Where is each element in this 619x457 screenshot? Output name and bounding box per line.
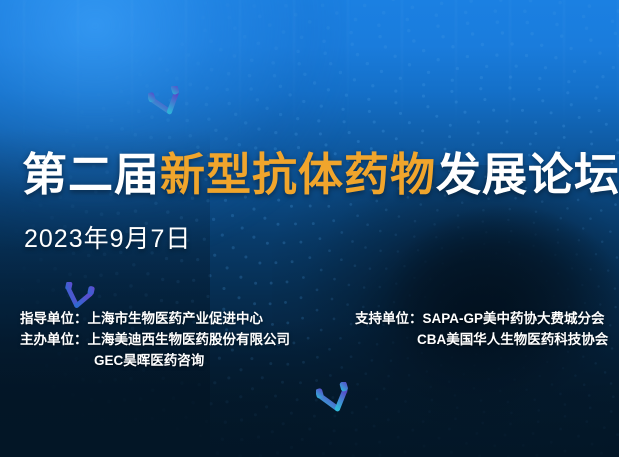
guidance-unit-line: 指导单位：上海市生物医药产业促进中心 — [20, 308, 290, 329]
banner-content: 第二届新型抗体药物发展论坛 2023年9月7日 指导单位：上海市生物医药产业促进… — [0, 0, 619, 457]
forum-banner: 第二届新型抗体药物发展论坛 2023年9月7日 指导单位：上海市生物医药产业促进… — [0, 0, 619, 457]
organizers-right-block: 支持单位：SAPA-GP美中药协大费城分会 CBA美国华人生物医药科技协会 — [355, 308, 608, 350]
support-unit-line-2: CBA美国华人生物医药科技协会 — [355, 329, 608, 350]
banner-title: 第二届新型抗体药物发展论坛 — [22, 152, 619, 197]
support-unit-line: 支持单位：SAPA-GP美中药协大费城分会 — [355, 308, 608, 329]
organizers-left-block: 指导单位：上海市生物医药产业促进中心 主办单位：上海美迪西生物医药股份有限公司 … — [20, 308, 290, 371]
event-date: 2023年9月7日 — [24, 219, 191, 255]
title-highlight: 新型抗体药物 — [160, 149, 436, 200]
title-suffix: 发展论坛 — [436, 149, 619, 200]
host-unit-line: 主办单位：上海美迪西生物医药股份有限公司 — [20, 329, 290, 350]
title-prefix: 第二届 — [22, 149, 160, 200]
host-unit-line-2: GEC昊晖医药咨询 — [20, 350, 290, 371]
